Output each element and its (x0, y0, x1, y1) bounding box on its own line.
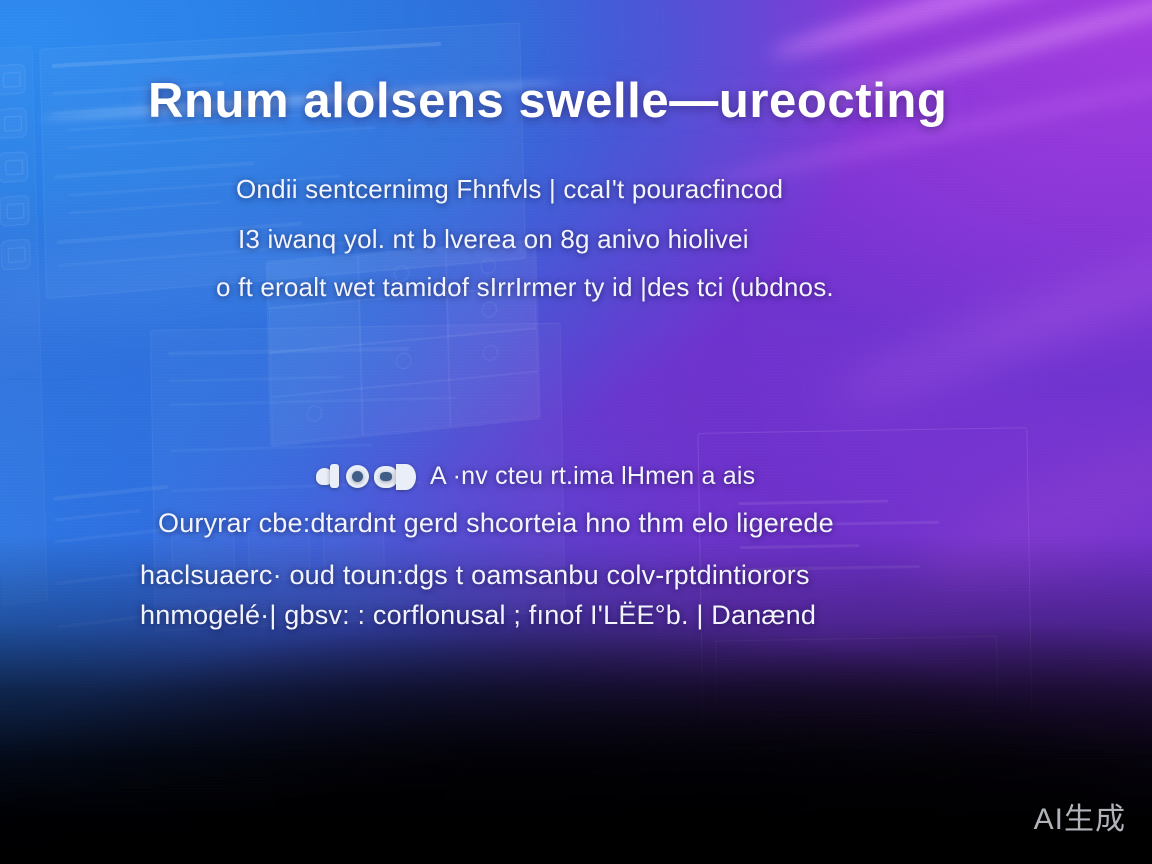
blob-glyph-hole (380, 472, 392, 481)
paragraph-bottom-line-1: A ·nv cteu rt.ima lHmen a ais (430, 464, 755, 489)
paragraph-bottom-line-4: hnmogelé·| gbsv: : corflonusal ; fınof I… (140, 602, 816, 629)
paragraph-bottom-line-2: Ouryrar cbe:dtardnt gerd shcorteia hno t… (158, 510, 834, 537)
paragraph-top-line-3: o ft eroalt wet tamidof sIrrIrmer ty id … (216, 274, 834, 300)
text-overlay: Rnum alolsens swelle—ureocting Ondii sen… (0, 0, 1152, 864)
blob-glyph (330, 464, 339, 488)
ai-generated-watermark: AI生成 (1034, 794, 1126, 838)
banner-canvas: Rnum alolsens swelle—ureocting Ondii sen… (0, 0, 1152, 864)
blob-glyph (396, 464, 416, 490)
paragraph-top-line-2: I3 iwanq yol. nt b lverea on 8g anivo hi… (238, 226, 749, 252)
illegible-blob-glyphs-icon (316, 462, 420, 496)
paragraph-bottom-line-3: haclsuaerc· oud toun:dgs t oamsanbu colv… (140, 562, 810, 589)
blob-glyph-hole (352, 471, 363, 482)
paragraph-top-line-1: Ondii sentcernimg Fhnfvls | ccaI't poura… (236, 176, 783, 202)
page-title: Rnum alolsens swelle—ureocting (148, 76, 1028, 128)
